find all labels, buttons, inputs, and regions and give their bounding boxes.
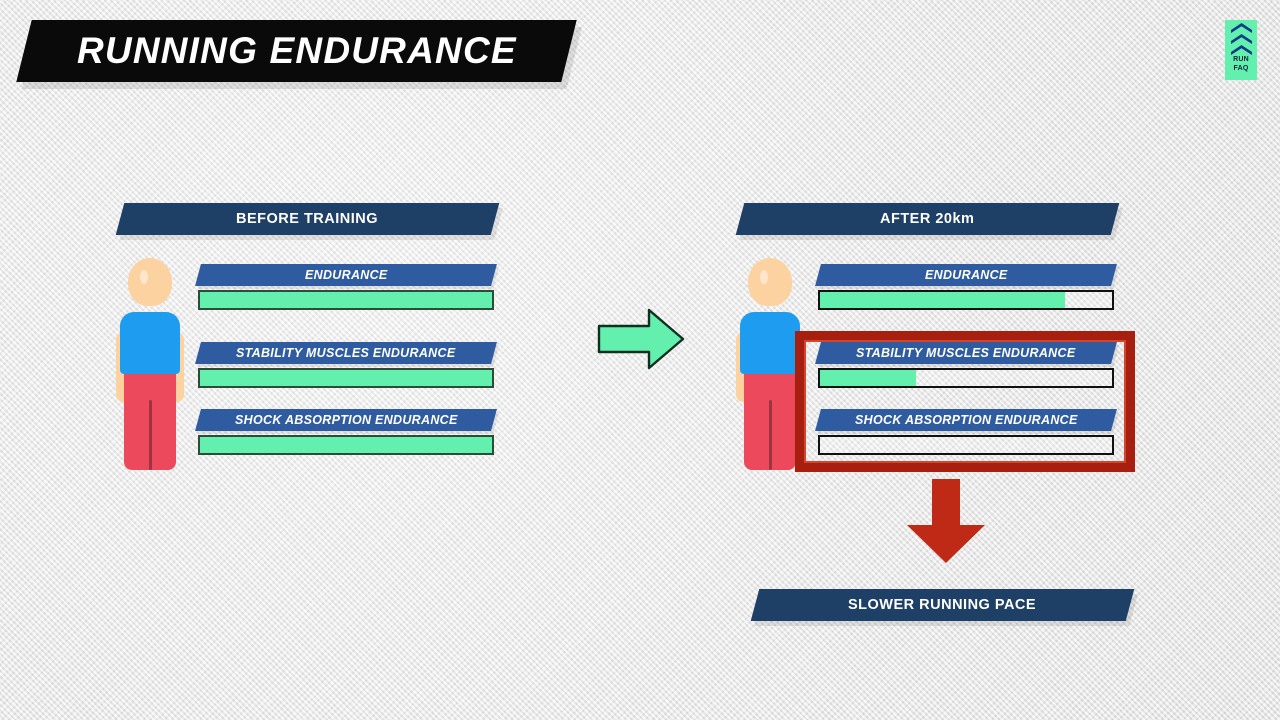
metric-label-chip: STABILITY MUSCLES ENDURANCE	[195, 342, 497, 364]
logo-line-2: FAQ	[1234, 65, 1249, 73]
page-title-banner: RUNNING ENDURANCE	[16, 20, 576, 82]
section-header-after: AFTER 20km	[736, 203, 1120, 235]
chevron-up-icon	[1231, 45, 1252, 55]
section-header-before: BEFORE TRAINING	[116, 203, 500, 235]
brand-logo[interactable]: RUN FAQ	[1225, 20, 1257, 80]
metric-bar-track	[818, 435, 1114, 455]
metric-bar-track	[818, 290, 1114, 310]
figure-torso	[740, 312, 800, 374]
metric-label: SHOCK ABSORPTION ENDURANCE	[235, 413, 458, 427]
metric-bar-fill	[200, 370, 492, 386]
metric-label-chip: ENDURANCE	[815, 264, 1117, 286]
figure-head	[748, 258, 792, 306]
metric-bar-track	[818, 368, 1114, 388]
metric-label: STABILITY MUSCLES ENDURANCE	[236, 346, 455, 360]
infographic-canvas: RUNNING ENDURANCE RUN FAQ BEFORE TRAININ…	[0, 0, 1280, 720]
metric-stability-after: STABILITY MUSCLES ENDURANCE	[818, 342, 1114, 388]
metric-label: STABILITY MUSCLES ENDURANCE	[856, 346, 1075, 360]
metric-shock-before: SHOCK ABSORPTION ENDURANCE	[198, 409, 494, 455]
metric-endurance-before: ENDURANCE	[198, 264, 494, 310]
metric-label: ENDURANCE	[305, 268, 388, 282]
metric-label: ENDURANCE	[925, 268, 1008, 282]
metric-label-chip: SHOCK ABSORPTION ENDURANCE	[815, 409, 1117, 431]
figure-legs	[744, 370, 796, 470]
chevron-up-icon	[1231, 23, 1252, 33]
metric-bar-fill	[820, 370, 916, 386]
chevron-up-icon	[1231, 34, 1252, 44]
metric-bar-fill	[820, 292, 1065, 308]
metric-bar-track	[198, 290, 494, 310]
metric-bar-track	[198, 435, 494, 455]
metric-label-chip: STABILITY MUSCLES ENDURANCE	[815, 342, 1117, 364]
figure-leg-split	[769, 400, 772, 470]
logo-line-1: RUN	[1233, 56, 1249, 64]
section-header-result-label: SLOWER RUNNING PACE	[848, 597, 1036, 613]
section-header-after-label: AFTER 20km	[880, 211, 974, 227]
figure-head-highlight	[760, 270, 768, 284]
metric-shock-after: SHOCK ABSORPTION ENDURANCE	[818, 409, 1114, 455]
metric-bar-track	[198, 368, 494, 388]
metric-label: SHOCK ABSORPTION ENDURANCE	[855, 413, 1078, 427]
arrow-right-icon	[597, 308, 685, 370]
figure-leg-split	[149, 400, 152, 470]
section-header-result: SLOWER RUNNING PACE	[751, 589, 1135, 621]
figure-head	[128, 258, 172, 306]
metric-bar-fill	[200, 437, 492, 453]
metric-label-chip: SHOCK ABSORPTION ENDURANCE	[195, 409, 497, 431]
metric-bar-fill	[200, 292, 492, 308]
metric-stability-before: STABILITY MUSCLES ENDURANCE	[198, 342, 494, 388]
metric-label-chip: ENDURANCE	[195, 264, 497, 286]
metric-endurance-after: ENDURANCE	[818, 264, 1114, 310]
arrow-down-icon	[903, 477, 989, 565]
figure-legs	[124, 370, 176, 470]
runner-figure-before	[114, 258, 186, 470]
figure-head-highlight	[140, 270, 148, 284]
page-title: RUNNING ENDURANCE	[77, 30, 517, 72]
figure-torso	[120, 312, 180, 374]
section-header-before-label: BEFORE TRAINING	[236, 211, 378, 227]
